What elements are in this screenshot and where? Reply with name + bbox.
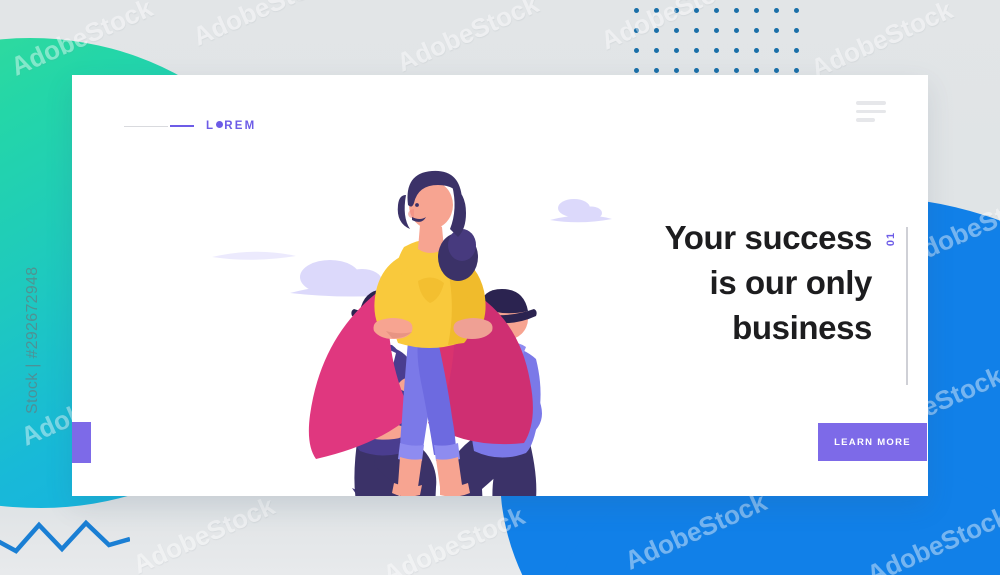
watermark-stock-id: Stock | #292672948 — [24, 204, 42, 414]
dot-icon — [714, 48, 719, 53]
zigzag-line-decoration — [0, 509, 130, 557]
card-accent-tab — [72, 422, 91, 463]
dot-icon — [734, 28, 739, 33]
dot-icon — [634, 48, 639, 53]
cloud-far-left — [212, 252, 296, 260]
dot-icon — [654, 68, 659, 73]
dot-icon — [754, 68, 759, 73]
hamburger-bar-1 — [856, 101, 886, 105]
hamburger-bar-2 — [856, 110, 886, 114]
dot-icon — [714, 28, 719, 33]
dot-icon — [634, 68, 639, 73]
headline-line: business — [527, 305, 872, 350]
dot-icon — [694, 68, 699, 73]
slide-number-marker: 01 — [884, 225, 908, 450]
dot-icon — [674, 28, 679, 33]
dot-icon — [794, 68, 799, 73]
dot-icon — [694, 28, 699, 33]
dot-icon — [734, 68, 739, 73]
hero-copy: Your successis our onlybusiness — [527, 215, 872, 351]
headline-line: is our only — [527, 260, 872, 305]
hero-card: LREM — [72, 75, 928, 496]
dot-icon — [694, 48, 699, 53]
dot-icon — [754, 48, 759, 53]
hamburger-menu-icon[interactable] — [856, 101, 886, 127]
dot-icon — [734, 48, 739, 53]
dot-icon — [714, 68, 719, 73]
dot-icon — [794, 48, 799, 53]
dot-grid-row — [634, 48, 814, 68]
dot-icon — [774, 8, 779, 13]
dot-icon — [774, 68, 779, 73]
learn-more-button[interactable]: LEARN MORE — [818, 423, 927, 461]
screenshot-root: AdobeStock AdobeStock AdobeStock AdobeSt… — [0, 0, 1000, 575]
headline-line: Your success — [527, 215, 872, 260]
page-title: Your successis our onlybusiness — [527, 215, 872, 351]
slide-number: 01 — [885, 232, 897, 246]
dot-icon — [654, 48, 659, 53]
dot-icon — [794, 28, 799, 33]
dot-icon — [794, 8, 799, 13]
dot-icon — [774, 48, 779, 53]
dot-icon — [774, 28, 779, 33]
dot-icon — [734, 8, 739, 13]
dot-icon — [674, 68, 679, 73]
dot-icon — [754, 8, 759, 13]
brand-rule — [170, 125, 194, 127]
slide-marker-line — [906, 227, 908, 385]
hamburger-bar-3 — [856, 118, 875, 122]
brand-rule-soft — [124, 126, 168, 127]
dot-icon — [674, 48, 679, 53]
dot-icon — [754, 28, 759, 33]
